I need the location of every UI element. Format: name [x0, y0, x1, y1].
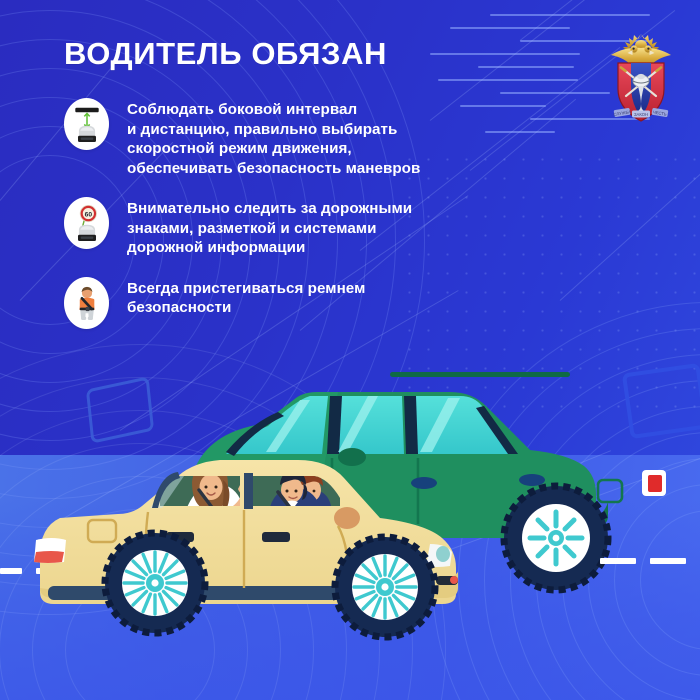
- suv-wheel: [504, 486, 608, 590]
- svg-text:ЧЕСТЬ: ЧЕСТЬ: [653, 110, 668, 117]
- mvd-emblem: СЛУЖБА ЗАКОН ЧЕСТЬ: [608, 28, 674, 132]
- requirements-list: Соблюдать боковой интервал и дистанцию, …: [64, 96, 584, 346]
- speed-limit-value: 60: [84, 211, 92, 218]
- two-cars-illustration: [0, 340, 700, 700]
- list-item-label: Внимательно следить за дорожными знаками…: [127, 195, 412, 258]
- list-item: 60 Внимательно следить за дорожными знак…: [64, 195, 584, 258]
- list-item: Всегда пристегиваться ремнем безопасност…: [64, 275, 584, 329]
- list-item-label: Всегда пристегиваться ремнем безопасност…: [127, 275, 365, 318]
- svg-text:ЗАКОН: ЗАКОН: [634, 112, 648, 117]
- car-speed-sign-icon: 60: [64, 197, 109, 249]
- sedan-rear-wheel: [105, 533, 205, 633]
- list-item-label: Соблюдать боковой интервал и дистанцию, …: [127, 96, 420, 178]
- seatbelt-person-icon: [64, 277, 109, 329]
- list-item: Соблюдать боковой интервал и дистанцию, …: [64, 96, 584, 178]
- page-title: ВОДИТЕЛЬ ОБЯЗАН: [64, 38, 387, 69]
- sedan-front-wheel: [335, 537, 435, 637]
- car-distance-icon: [64, 98, 109, 150]
- poster-canvas: ВОДИТЕЛЬ ОБЯЗАН: [0, 0, 700, 700]
